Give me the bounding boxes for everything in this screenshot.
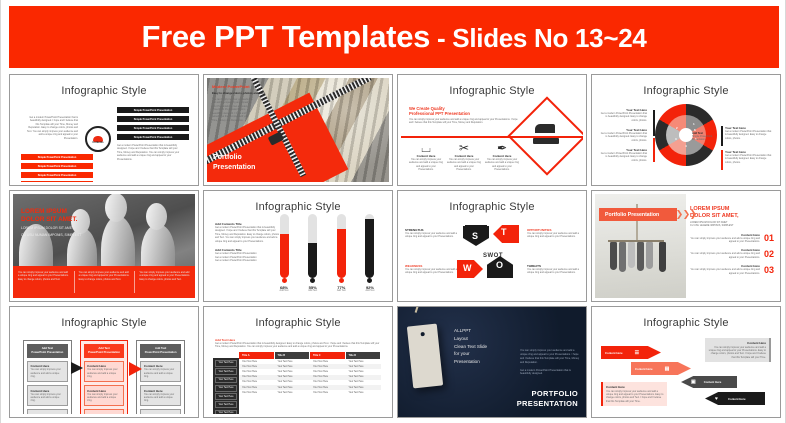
slide-18-bullet: Get a modern PowerPoint Presentation xyxy=(215,259,281,262)
item-number: 03 xyxy=(764,265,774,275)
slide-thumbnail-22[interactable]: Infographic Style Add Text Here Get a mo… xyxy=(203,306,393,418)
tag-string xyxy=(415,306,423,313)
label-text: Get a modern PowerPoint Presentation tha… xyxy=(599,152,647,162)
side-text: You can simply impress your audience and… xyxy=(405,268,457,275)
slide-21-columns: Add Text PowerPoint Presentation Content… xyxy=(23,340,185,414)
mannequin-head xyxy=(105,194,127,222)
chart-track xyxy=(365,214,374,278)
tag-hole xyxy=(421,332,425,336)
list-item: Simple PowerPoint Presentation xyxy=(117,125,189,131)
slide-14-overlay-text: Portfolio Presentation xyxy=(213,153,255,172)
column-header: Title C xyxy=(310,352,346,359)
table-side-column: Your Text Here Your Text Here Your Text … xyxy=(213,358,239,414)
slide-14-paragraph: You can simply impress your audience and… xyxy=(212,98,254,122)
garment xyxy=(637,242,644,271)
item-text: You can simply impress your audience and… xyxy=(690,268,760,275)
column-header: Title A xyxy=(239,352,275,359)
column-box: Content Here You can simply impress your… xyxy=(27,409,68,414)
box-text: You can simply impress your audience and… xyxy=(31,368,65,378)
cell: Your Text Here xyxy=(346,390,382,395)
slide-15-icon-item: ✒ Content Here You can simply impress yo… xyxy=(485,142,519,172)
swot-center-label: SWOT xyxy=(483,253,503,259)
slide-15-paragraph: You can simply impress your audience and… xyxy=(409,118,519,125)
slide-22-title: Infographic Style xyxy=(207,310,389,329)
slide-15-heading-line2: Professional PPT Presentation xyxy=(409,111,519,116)
list-item: Simple PowerPoint Presentation xyxy=(117,134,189,140)
arrow-content-3: ▣ Content Here xyxy=(681,376,737,388)
needle-icon: ✒ xyxy=(485,142,519,154)
slide-17-title-group: LOREM IPSUM DOLOR SIT AMET. LOREM IPSUM … xyxy=(21,208,81,238)
garment xyxy=(610,242,617,270)
arrow-content-1: Content Here ☰ xyxy=(601,346,661,359)
slide-16-chart: 1 2 3 4 5 6 Your Text Here Get a modern … xyxy=(595,104,777,172)
banner-title-main: Free PPT Templates xyxy=(141,19,430,54)
sewing-machine-icon xyxy=(533,124,559,144)
slide-thumbnail-13[interactable]: Infographic Style Get a modern PowerPoin… xyxy=(9,74,199,186)
chart-column: 77% Add Text xyxy=(332,214,350,292)
slide-15-icon-text: You can simply impress your audience and… xyxy=(447,158,481,172)
box-title: Content Here xyxy=(144,413,178,414)
value-dot xyxy=(339,278,344,283)
briefcase-icon: ☰ xyxy=(635,350,639,356)
slide-14-overlay-line2: Presentation xyxy=(213,163,255,172)
slide-18-text-group: Add Contents Title Get a modern PowerPoi… xyxy=(215,222,281,263)
arrow-content-2: Content Here ▤ xyxy=(631,362,691,375)
side-row: Your Text Here xyxy=(215,385,237,392)
label-tick xyxy=(653,110,655,136)
slide-19-title: Infographic Style xyxy=(401,194,583,213)
category-label: Add Text xyxy=(304,290,322,292)
slide-thumbnail-15[interactable]: Infographic Style We Create Quality Prof… xyxy=(397,74,587,186)
camera-icon: ▣ xyxy=(691,379,696,385)
swot-letter-o: O xyxy=(496,260,503,270)
slide-thumbnail-23[interactable]: ALLPPT Layout Clean Text Slide for your … xyxy=(397,306,587,418)
category-label: Add Text xyxy=(275,290,293,292)
list-item: Simple PowerPoint Presentation xyxy=(21,181,93,182)
slide-23-footer: PORTFOLIO PRESENTATION xyxy=(517,389,578,409)
banner-title-sub: - Slides No 13~24 xyxy=(430,23,646,53)
side-text: You can simply impress your audience and… xyxy=(527,232,579,239)
slide-13-red-bars: Simple PowerPoint Presentation Simple Po… xyxy=(21,154,93,182)
slide-16-label-left: Your Text Here Get a modern PowerPoint P… xyxy=(599,148,647,162)
side-row: Your Text Here xyxy=(215,410,237,414)
header-line2: PowerPoint Presentation xyxy=(141,351,180,355)
segment-number: 4 xyxy=(685,144,687,148)
box-text: You can simply impress your audience and… xyxy=(708,346,766,360)
column-header: Add Text PowerPoint Presentation xyxy=(140,344,181,358)
slide-22-lead: Add Text Here Get a modern PowerPoint Pr… xyxy=(215,338,381,349)
side-row: Your Text Here xyxy=(215,393,237,400)
box-title: Content Here xyxy=(87,413,121,414)
side-text: You can simply impress your audience and… xyxy=(527,268,579,275)
box-title: Content Here xyxy=(31,413,65,414)
slide-15-heading-group: We Create Quality Professional PPT Prese… xyxy=(409,106,519,125)
column-box: Content Here You can simply impress your… xyxy=(84,385,125,406)
cell: Your Text Here xyxy=(310,390,346,395)
side-row: Your Text Here xyxy=(215,401,237,408)
column-box: Content Here You can simply impress your… xyxy=(140,361,181,382)
list-item: Simple PowerPoint Presentation xyxy=(21,163,93,169)
slide-14-heading: Modern PowerPoint xyxy=(212,84,265,89)
slide-15-icon-text: You can simply impress your audience and… xyxy=(409,158,443,172)
header-line2: PowerPoint Presentation xyxy=(28,351,67,355)
iron-icon: ⌴ xyxy=(409,142,443,154)
chart-fill xyxy=(280,234,289,278)
box-text: You can simply impress your audience and… xyxy=(87,368,121,378)
book-icon: ▤ xyxy=(665,366,670,372)
slide-15-icon-row: ⌴ Content Here You can simply impress yo… xyxy=(409,142,519,172)
slide-14-subheading: Easy to change colors, photos and Text. xyxy=(212,91,265,95)
column-box: Content Here You can simply impress your… xyxy=(140,385,181,406)
band-text: You can simply impress your audience and… xyxy=(18,271,69,281)
thermometer-chart: 68% Add Text 55% Add Text xyxy=(275,218,379,292)
side-row: Your Text Here xyxy=(215,360,237,367)
header-banner: Free PPT Templates - Slides No 13~24 xyxy=(9,6,779,68)
content-box-grey: Content Here You can simply impress your… xyxy=(705,338,771,362)
arrow-label: Content Here xyxy=(704,380,722,384)
slide-thumbnail-17[interactable]: LOREM IPSUM DOLOR SIT AMET. LOREM IPSUM … xyxy=(9,190,199,302)
column-box: Content Here You can simply impress your… xyxy=(84,361,125,382)
slide-thumbnail-16[interactable]: Infographic Style 1 2 3 4 5 6 Your Text … xyxy=(591,74,781,186)
value-dot xyxy=(367,278,372,283)
slide-14-overlay-line1: Portfolio xyxy=(213,153,255,162)
heart-icon: ♥ xyxy=(715,396,718,402)
segment-number: 2 xyxy=(676,126,678,130)
garment xyxy=(646,242,653,269)
slide-24-diagram: Content Here ☰ Content Here ▤ ▣ Content … xyxy=(595,310,777,414)
tag-line: ALLPPT xyxy=(454,327,487,335)
slide-14-heading-group: Modern PowerPoint Easy to change colors,… xyxy=(212,84,265,122)
center-label-text: Simple PowerPoint Presentation xyxy=(692,135,720,142)
slide-thumbnail-21[interactable]: Infographic Style Add Text PowerPoint Pr… xyxy=(9,306,199,418)
swot-side-strengths: STRENGTHS You can simply impress your au… xyxy=(405,228,457,239)
slide-thumbnail-14[interactable]: Modern PowerPoint Easy to change colors,… xyxy=(203,74,393,186)
side-row: Your Text Here xyxy=(215,377,237,384)
lead-text: Get a modern PowerPoint Presentation tha… xyxy=(215,342,381,349)
box-text: You can simply impress your audience and… xyxy=(144,368,178,378)
slide-17-subtitle-line2: CU USU NUMAN IMPONIS, SIMPLEST xyxy=(21,233,81,238)
mannequin-body xyxy=(141,224,175,272)
chart-column: 92% Add Text xyxy=(361,214,379,292)
tag-line: Clean Text Slide xyxy=(454,343,487,351)
label-tick xyxy=(721,126,723,146)
column-header: Add Text PowerPoint Presentation xyxy=(84,344,125,358)
table-row: Your Text Here Your Text Here Your Text … xyxy=(239,390,381,395)
header-line2: PowerPoint Presentation xyxy=(85,351,124,355)
arrow-content-4: ♥ Content Here xyxy=(705,392,765,405)
column-header: Title D xyxy=(346,352,382,359)
body-text-1: You can simply impress your audience and… xyxy=(520,349,580,365)
label-text: Get a modern PowerPoint Presentation tha… xyxy=(725,130,773,140)
value-dot xyxy=(282,278,287,283)
swot-side-weakness: WEAKNESS You can simply impress your aud… xyxy=(405,264,457,275)
list-item: Simple PowerPoint Presentation xyxy=(117,107,189,113)
side-text: You can simply impress your audience and… xyxy=(405,232,457,239)
item-number: 02 xyxy=(764,249,774,259)
label-text: Get a modern PowerPoint Presentation tha… xyxy=(725,154,773,164)
template-preview-page: Free PPT Templates - Slides No 13~24 Inf… xyxy=(0,0,786,423)
slide-13-hub-label: Contents xyxy=(85,141,111,144)
slide-thumbnail-24[interactable]: Infographic Style Content Here ☰ Content… xyxy=(591,306,781,418)
slide-13-title: Infographic Style xyxy=(13,78,195,97)
slide-16-label-right: Your Text Here Get a modern PowerPoint P… xyxy=(725,150,773,164)
swot-side-opportunities: OPPORTUNITIES You can simply impress you… xyxy=(527,228,579,239)
garment xyxy=(619,242,626,272)
data-table: Title A Title B Title C Title D Your Tex… xyxy=(239,352,381,395)
slide-17-title-line1: LOREM IPSUM xyxy=(21,208,81,216)
list-item: Simple PowerPoint Presentation xyxy=(117,116,189,122)
segment-number: 3 xyxy=(675,137,677,141)
box-text: You can simply impress your audience and… xyxy=(31,393,65,403)
footer-line2: PRESENTATION xyxy=(517,399,578,409)
box-text: You can simply impress your audience and… xyxy=(606,390,664,404)
slide-16-label-right: Your Text Here Get a modern PowerPoint P… xyxy=(725,126,773,140)
arrow-right-red-icon xyxy=(129,362,142,376)
slide-thumbnail-20[interactable]: Portfolio Presentation LOREM IPSUM DOLOR… xyxy=(591,190,781,302)
slide-18-block1-text: Get a modern PowerPoint Presentation tha… xyxy=(215,226,281,243)
slide-23-tag-text: ALLPPT Layout Clean Text Slide for your … xyxy=(454,327,487,366)
band-column: You can simply impress your audience and… xyxy=(13,266,74,298)
chart-fill xyxy=(308,243,317,278)
column-box: Content Here You can simply impress your… xyxy=(140,409,181,414)
label-tick xyxy=(653,138,655,162)
arrow-right-dark-icon xyxy=(71,362,83,374)
list-item: Content Here You can simply impress your… xyxy=(690,233,774,244)
mannequin-body xyxy=(101,216,135,272)
tag-line: Layout xyxy=(454,335,487,343)
slide-13-right-paragraph: Get a modern PowerPoint Presentation tha… xyxy=(117,144,183,161)
list-item: Content Here You can simply impress your… xyxy=(690,248,774,259)
slide-20-subtitle-line2: CU USU LEGERE IMPONIS, SIMPLEST xyxy=(690,224,774,227)
cell: Your Text Here xyxy=(239,390,275,395)
slide-grid: Infographic Style Get a modern PowerPoin… xyxy=(9,74,781,418)
slide-16-center-label: Add Text Simple PowerPoint Presentation xyxy=(692,132,720,142)
chart-track xyxy=(280,214,289,278)
label-tick xyxy=(721,150,723,170)
column-header: Title B xyxy=(275,352,311,359)
chart-fill xyxy=(337,229,346,278)
garment xyxy=(628,242,635,268)
tag-line: for your xyxy=(454,350,487,358)
swot-letter-s: S xyxy=(472,231,478,241)
chart-fill xyxy=(365,219,374,278)
donut-core xyxy=(679,128,693,142)
chevron-right-icon xyxy=(677,208,705,221)
slide-15-icon-item: ⌴ Content Here You can simply impress yo… xyxy=(409,142,443,172)
list-item: Simple PowerPoint Presentation xyxy=(21,172,93,178)
box-text: You can simply impress your audience and… xyxy=(87,393,121,403)
slide-17-subtitle-line1: LOREM IPSUM DOLOR SIT AMET, xyxy=(21,226,81,231)
slide-16-label-left: Your Text Here Get a modern PowerPoint P… xyxy=(599,108,647,122)
body-text-2: Get a modern PowerPoint Presentation tha… xyxy=(520,369,580,377)
slide-15-icon-item: ✂ Content Here You can simply impress yo… xyxy=(447,142,481,172)
slide-thumbnail-19[interactable]: Infographic Style S T W O SWOT xyxy=(397,190,587,302)
slide-13-dark-bars: Simple PowerPoint Presentation Simple Po… xyxy=(117,107,189,143)
slide-thumbnail-18[interactable]: Infographic Style Add Contents Title Get… xyxy=(203,190,393,302)
tag-line: Presentation xyxy=(454,358,487,366)
label-text: Get a modern PowerPoint Presentation tha… xyxy=(599,132,647,142)
compare-column: Add Text PowerPoint Presentation Content… xyxy=(136,340,185,414)
column-header: Add Text PowerPoint Presentation xyxy=(27,344,68,358)
footer-line1: PORTFOLIO xyxy=(517,389,578,399)
garment xyxy=(659,242,666,272)
chart-column: 55% Add Text xyxy=(304,214,322,292)
scissors-icon: ✂ xyxy=(447,142,481,154)
slide-16-title: Infographic Style xyxy=(595,78,777,97)
band-text: You can simply impress your audience and… xyxy=(139,271,190,281)
side-row: Your Text Here xyxy=(215,368,237,375)
slide-23-body: You can simply impress your audience and… xyxy=(520,349,580,376)
compare-column-highlighted: Add Text PowerPoint Presentation Content… xyxy=(80,340,129,414)
swot-letter-t: T xyxy=(501,227,507,237)
value-dot xyxy=(310,278,315,283)
arrow-label: Content Here xyxy=(728,397,746,401)
chart-column: 68% Add Text xyxy=(275,214,293,292)
column-box: Content Here You can simply impress your… xyxy=(84,409,125,414)
swot-diagram: S T W O SWOT STRENGTHS You can simply im… xyxy=(401,220,583,292)
swot-letter-w: W xyxy=(463,263,472,273)
slide-16-label-left: Your Text Here Get a modern PowerPoint P… xyxy=(599,128,647,142)
table-header-row: Title A Title B Title C Title D xyxy=(239,352,381,359)
column-box: Content Here You can simply impress your… xyxy=(27,361,68,382)
slide-21-title: Infographic Style xyxy=(13,310,195,329)
slide-15-title: Infographic Style xyxy=(401,78,583,97)
slide-17-title-line2: DOLOR SIT AMET. xyxy=(21,216,81,224)
item-text: You can simply impress your audience and… xyxy=(690,237,760,244)
band-column: You can simply impress your audience and… xyxy=(134,266,195,298)
band-column: You can simply impress your audience and… xyxy=(74,266,135,298)
slide-20-banner: Portfolio Presentation xyxy=(599,208,677,221)
slide-13-hub xyxy=(85,126,111,152)
label-text: Get a modern PowerPoint Presentation tha… xyxy=(599,112,647,122)
band-text: You can simply impress your audience and… xyxy=(79,271,130,281)
arrow-label: Content Here xyxy=(605,351,623,355)
compare-column: Add Text PowerPoint Presentation Content… xyxy=(23,340,72,414)
slide-15-icon-text: You can simply impress your audience and… xyxy=(485,158,519,172)
slide-17-column-band: You can simply impress your audience and… xyxy=(13,266,195,298)
swot-side-threats: THREATS You can simply impress your audi… xyxy=(527,264,579,275)
arrow-label: Content Here xyxy=(635,367,653,371)
list-item: Simple PowerPoint Presentation xyxy=(21,154,93,160)
list-item: Content Here You can simply impress your… xyxy=(690,264,774,275)
segment-number: 1 xyxy=(693,122,695,126)
price-tag xyxy=(407,324,443,389)
category-label: Add Text xyxy=(332,290,350,292)
category-label: Add Text xyxy=(361,290,379,292)
item-number: 01 xyxy=(764,233,774,243)
slide-18-title: Infographic Style xyxy=(207,194,389,213)
item-text: You can simply impress your audience and… xyxy=(690,252,760,259)
chart-track xyxy=(337,214,346,278)
mannequin-head xyxy=(146,203,167,230)
box-text: You can simply impress your audience and… xyxy=(144,393,178,403)
swot-banner-strengths xyxy=(465,225,487,229)
slide-13-left-paragraph: Get a modern PowerPoint Presentation tha… xyxy=(26,116,78,140)
column-box: Content Here You can simply impress your… xyxy=(27,385,68,406)
banner-title: Free PPT Templates - Slides No 13~24 xyxy=(141,19,646,55)
dark-background: ALLPPT Layout Clean Text Slide for your … xyxy=(398,307,586,417)
chart-track xyxy=(308,214,317,278)
content-box-red: Content Here You can simply impress your… xyxy=(601,382,667,406)
cell: Your Text Here xyxy=(275,390,311,395)
